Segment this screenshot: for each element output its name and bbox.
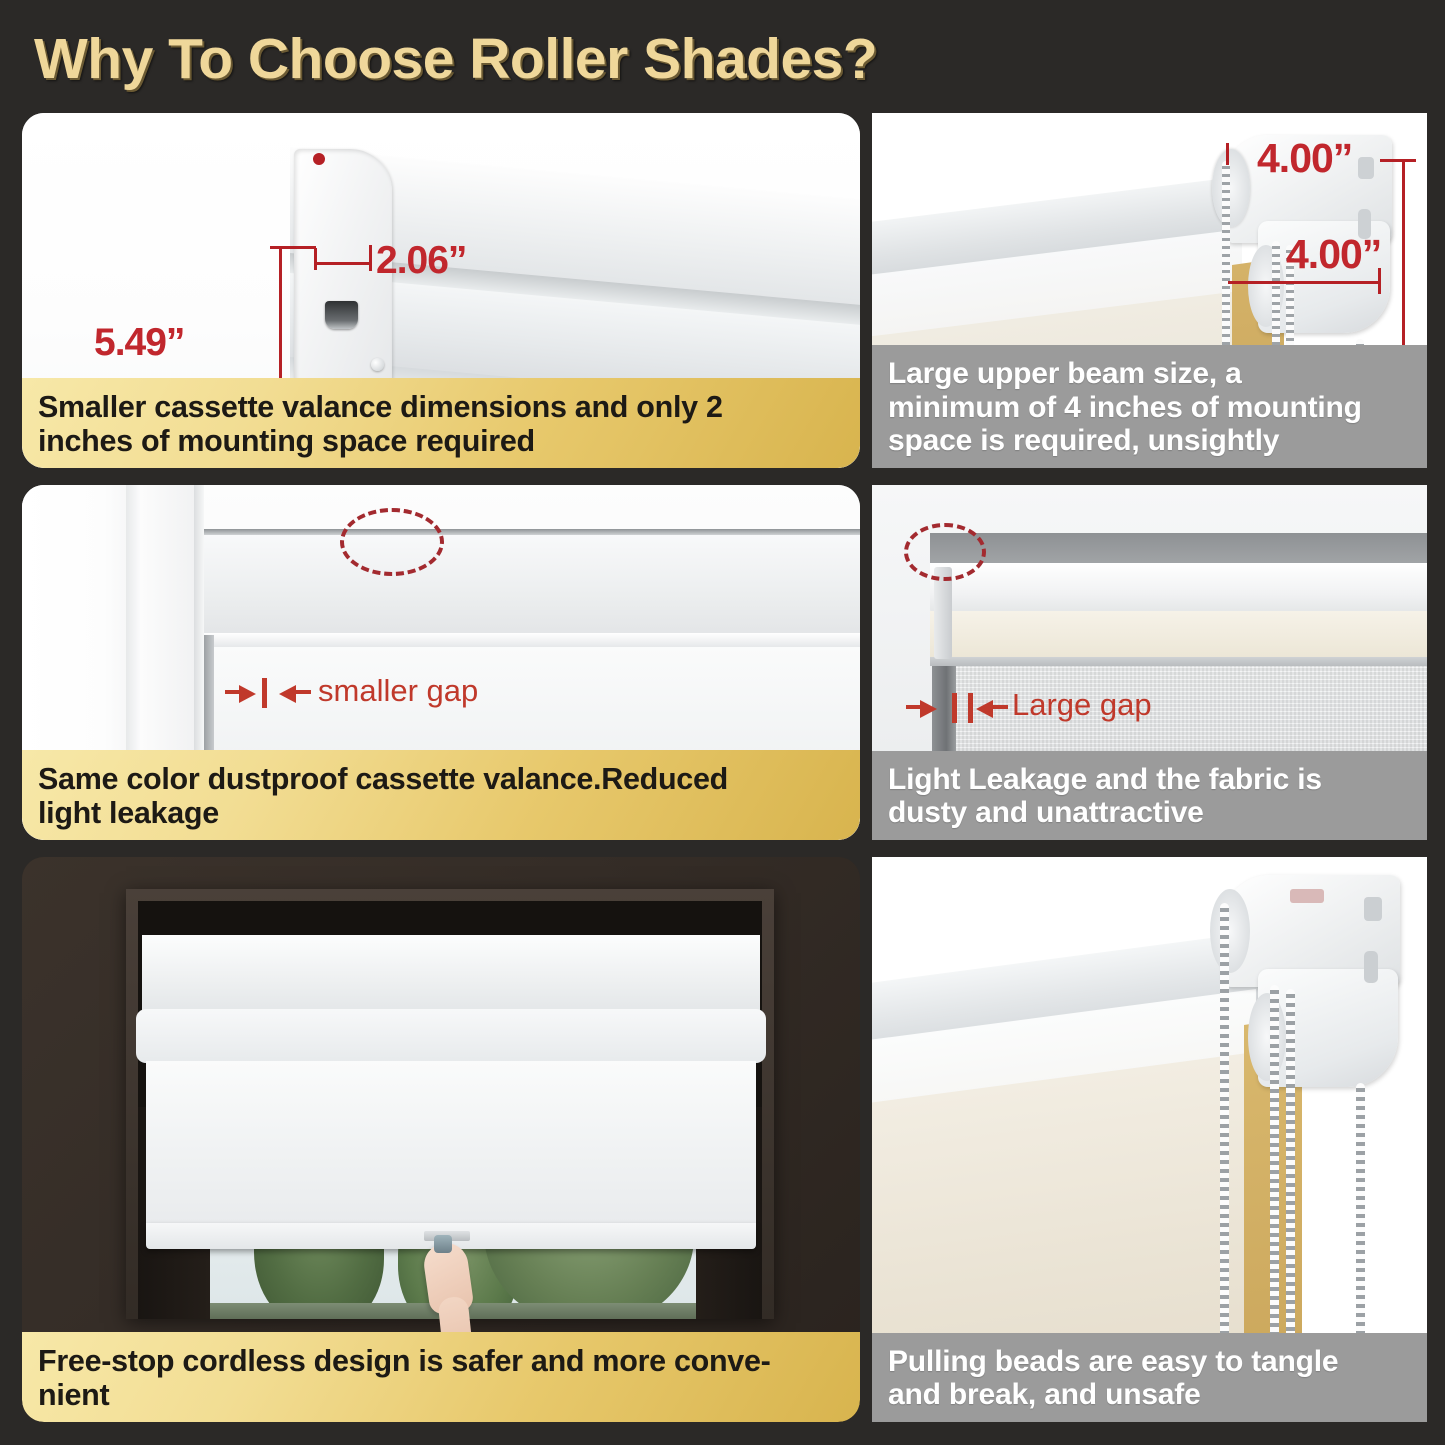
caption-line: Smaller cassette valance dimensions and … — [38, 390, 844, 424]
caption-line: Same color dustproof cassette valance.Re… — [38, 762, 844, 796]
caption-line: nient — [38, 1378, 844, 1412]
caption-line: inches of mounting space required — [38, 424, 844, 458]
caption-bottom-left: Free-stop cordless design is safer and m… — [22, 1332, 860, 1422]
dimension-origin-dot — [313, 153, 325, 165]
large-gap-marker-a — [952, 693, 957, 723]
caption-line: minimum of 4 inches of mounting — [888, 391, 1411, 425]
bracket-slot-top — [1364, 897, 1382, 921]
caption-mid-right: Light Leakage and the fabric is dusty an… — [872, 751, 1427, 840]
infographic-root: Why To Choose Roller Shades? 2.06” — [0, 0, 1445, 1445]
caption-top-left: Smaller cassette valance dimensions and … — [22, 378, 860, 468]
panel-top-right: 4.00” 4.00” Large upper beam size, a min… — [872, 113, 1427, 468]
caption-mid-left: Same color dustproof cassette valance.Re… — [22, 750, 860, 840]
gap-marker-bar — [262, 678, 267, 708]
cream-valance — [930, 611, 1427, 659]
gap-arrow-right-stem — [295, 690, 311, 694]
bracket-slot-a — [1358, 157, 1374, 179]
valance-bottom-rail — [930, 657, 1427, 666]
gap-arrow-left — [239, 685, 256, 703]
cassette-valance-face — [204, 535, 860, 635]
shade-fabric — [146, 1061, 756, 1229]
caption-top-right: Large upper beam size, a minimum of 4 in… — [872, 345, 1427, 468]
beam-height-tick-top — [1380, 159, 1416, 162]
width-tick-right — [369, 245, 372, 271]
cassette-lip — [204, 633, 860, 647]
caption-line: and break, and unsafe — [888, 1378, 1411, 1412]
large-gap-arrow-right — [976, 700, 993, 718]
roller-disc-upper — [1210, 889, 1250, 973]
caption-bottom-right: Pulling beads are easy to tangle and bre… — [872, 1333, 1427, 1422]
cassette-headrail — [142, 935, 760, 1017]
width-tick-left — [314, 248, 317, 270]
large-gap-arrow-left — [920, 700, 937, 718]
upper-beam — [930, 563, 1427, 615]
height-dimension-label: 5.49” — [94, 321, 184, 365]
beam-width-label: 4.00” — [1257, 135, 1352, 182]
caption-line: Large upper beam size, a — [888, 357, 1411, 391]
gap-arrow-right — [279, 685, 296, 703]
width-dim-bar — [315, 262, 371, 265]
large-gap-arrow-left-stem — [906, 705, 924, 709]
beam-height-label: 4.00” — [1286, 231, 1381, 278]
caption-line: dusty and unattractive — [888, 796, 1411, 830]
roller-disc-lower — [1248, 993, 1286, 1081]
panel-mid-left: smaller gap Same color dustproof cassett… — [22, 485, 860, 840]
roller-end-disc-upper — [1212, 149, 1250, 227]
bracket-slot-bottom — [1364, 951, 1378, 983]
page-title: Why To Choose Roller Shades? — [34, 26, 877, 92]
panel-mid-right: Large gap Light Leakage and the fabric i… — [872, 485, 1427, 840]
highlight-ellipse-large-gap — [904, 523, 986, 581]
large-gap-label: Large gap — [1012, 687, 1152, 723]
panel-bottom-left: Free-stop cordless design is safer and m… — [22, 857, 860, 1422]
caption-line: Light Leakage and the fabric is — [888, 763, 1411, 797]
highlight-ellipse-small-gap — [340, 508, 444, 576]
end-cap-slot — [325, 301, 358, 329]
gap-arrow-left-stem — [225, 690, 243, 694]
panel-bottom-right: Pulling beads are easy to tangle and bre… — [872, 857, 1427, 1422]
height-tick-top — [270, 246, 316, 249]
panel-top-left: 2.06” 5.49” Smaller cassette valance dim… — [22, 113, 860, 468]
beam-width-tick-left — [1226, 143, 1229, 165]
caption-line: Free-stop cordless design is safer and m… — [38, 1344, 844, 1378]
screw-upper — [371, 358, 384, 371]
caption-line: space is required, unsightly — [888, 424, 1411, 458]
width-dimension-label: 2.06” — [376, 239, 466, 283]
beam-width-dim-bar — [1228, 281, 1380, 284]
large-gap-marker-b — [968, 693, 973, 723]
cassette-front-roll — [136, 1009, 766, 1063]
caption-line: Pulling beads are easy to tangle — [888, 1345, 1411, 1379]
beam-height-dim-line — [1402, 160, 1405, 350]
smaller-gap-label: smaller gap — [318, 673, 478, 709]
large-gap-arrow-right-stem — [992, 705, 1008, 709]
bracket-label-strip — [1290, 889, 1324, 903]
pull-grip — [434, 1235, 452, 1253]
caption-line: light leakage — [38, 796, 844, 830]
